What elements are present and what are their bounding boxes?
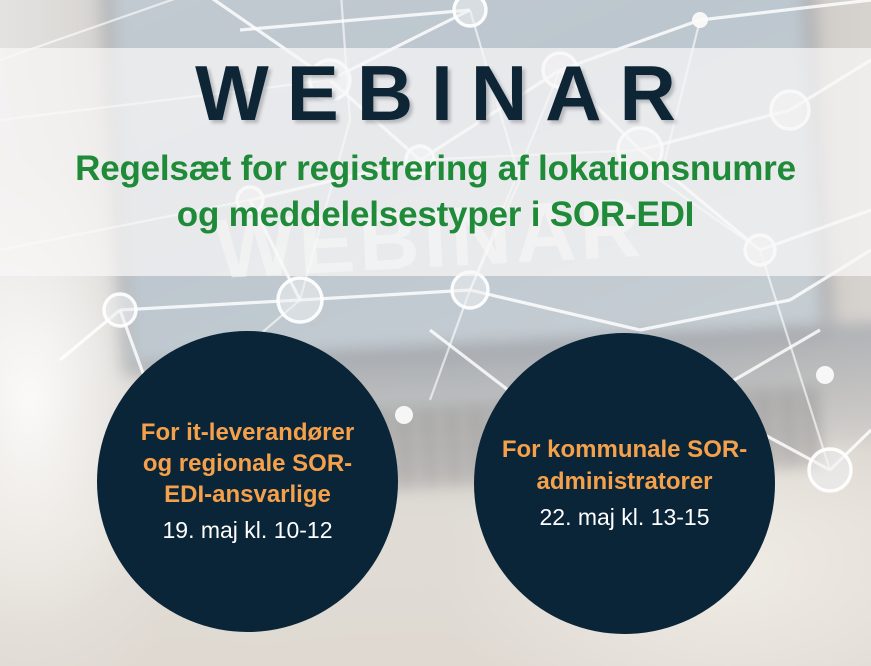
session-heading-line-3: EDI-ansvarlige [141,479,354,510]
session-date: 19. maj kl. 10-12 [162,516,332,546]
webinar-poster: WEBINAR [0,0,871,666]
page-subtitle-line-1: Regelsæt for registrering af lokationsnu… [75,149,796,188]
session-date: 22. maj kl. 13-15 [539,503,709,533]
session-heading: For kommunale SOR- administratorer [502,434,747,496]
session-heading-line-2: administratorer [502,466,747,497]
headline-block: WEBINAR Regelsæt for registrering af lok… [0,48,871,237]
session-circle-it-leverandorer: For it-leverandører og regionale SOR- ED… [97,331,398,632]
page-title: WEBINAR [0,48,871,132]
session-heading-line-1: For kommunale SOR- [502,434,747,465]
page-subtitle: Regelsæt for registrering af lokationsnu… [0,132,871,237]
session-heading-line-2: og regionale SOR- [141,448,354,479]
page-subtitle-line-2: og meddelelsestyper i SOR-EDI [0,192,871,238]
session-circle-kommunale-sor-administratorer: For kommunale SOR- administratorer 22. m… [474,333,775,634]
session-heading: For it-leverandører og regionale SOR- ED… [141,417,354,511]
session-heading-line-1: For it-leverandører [141,417,354,448]
